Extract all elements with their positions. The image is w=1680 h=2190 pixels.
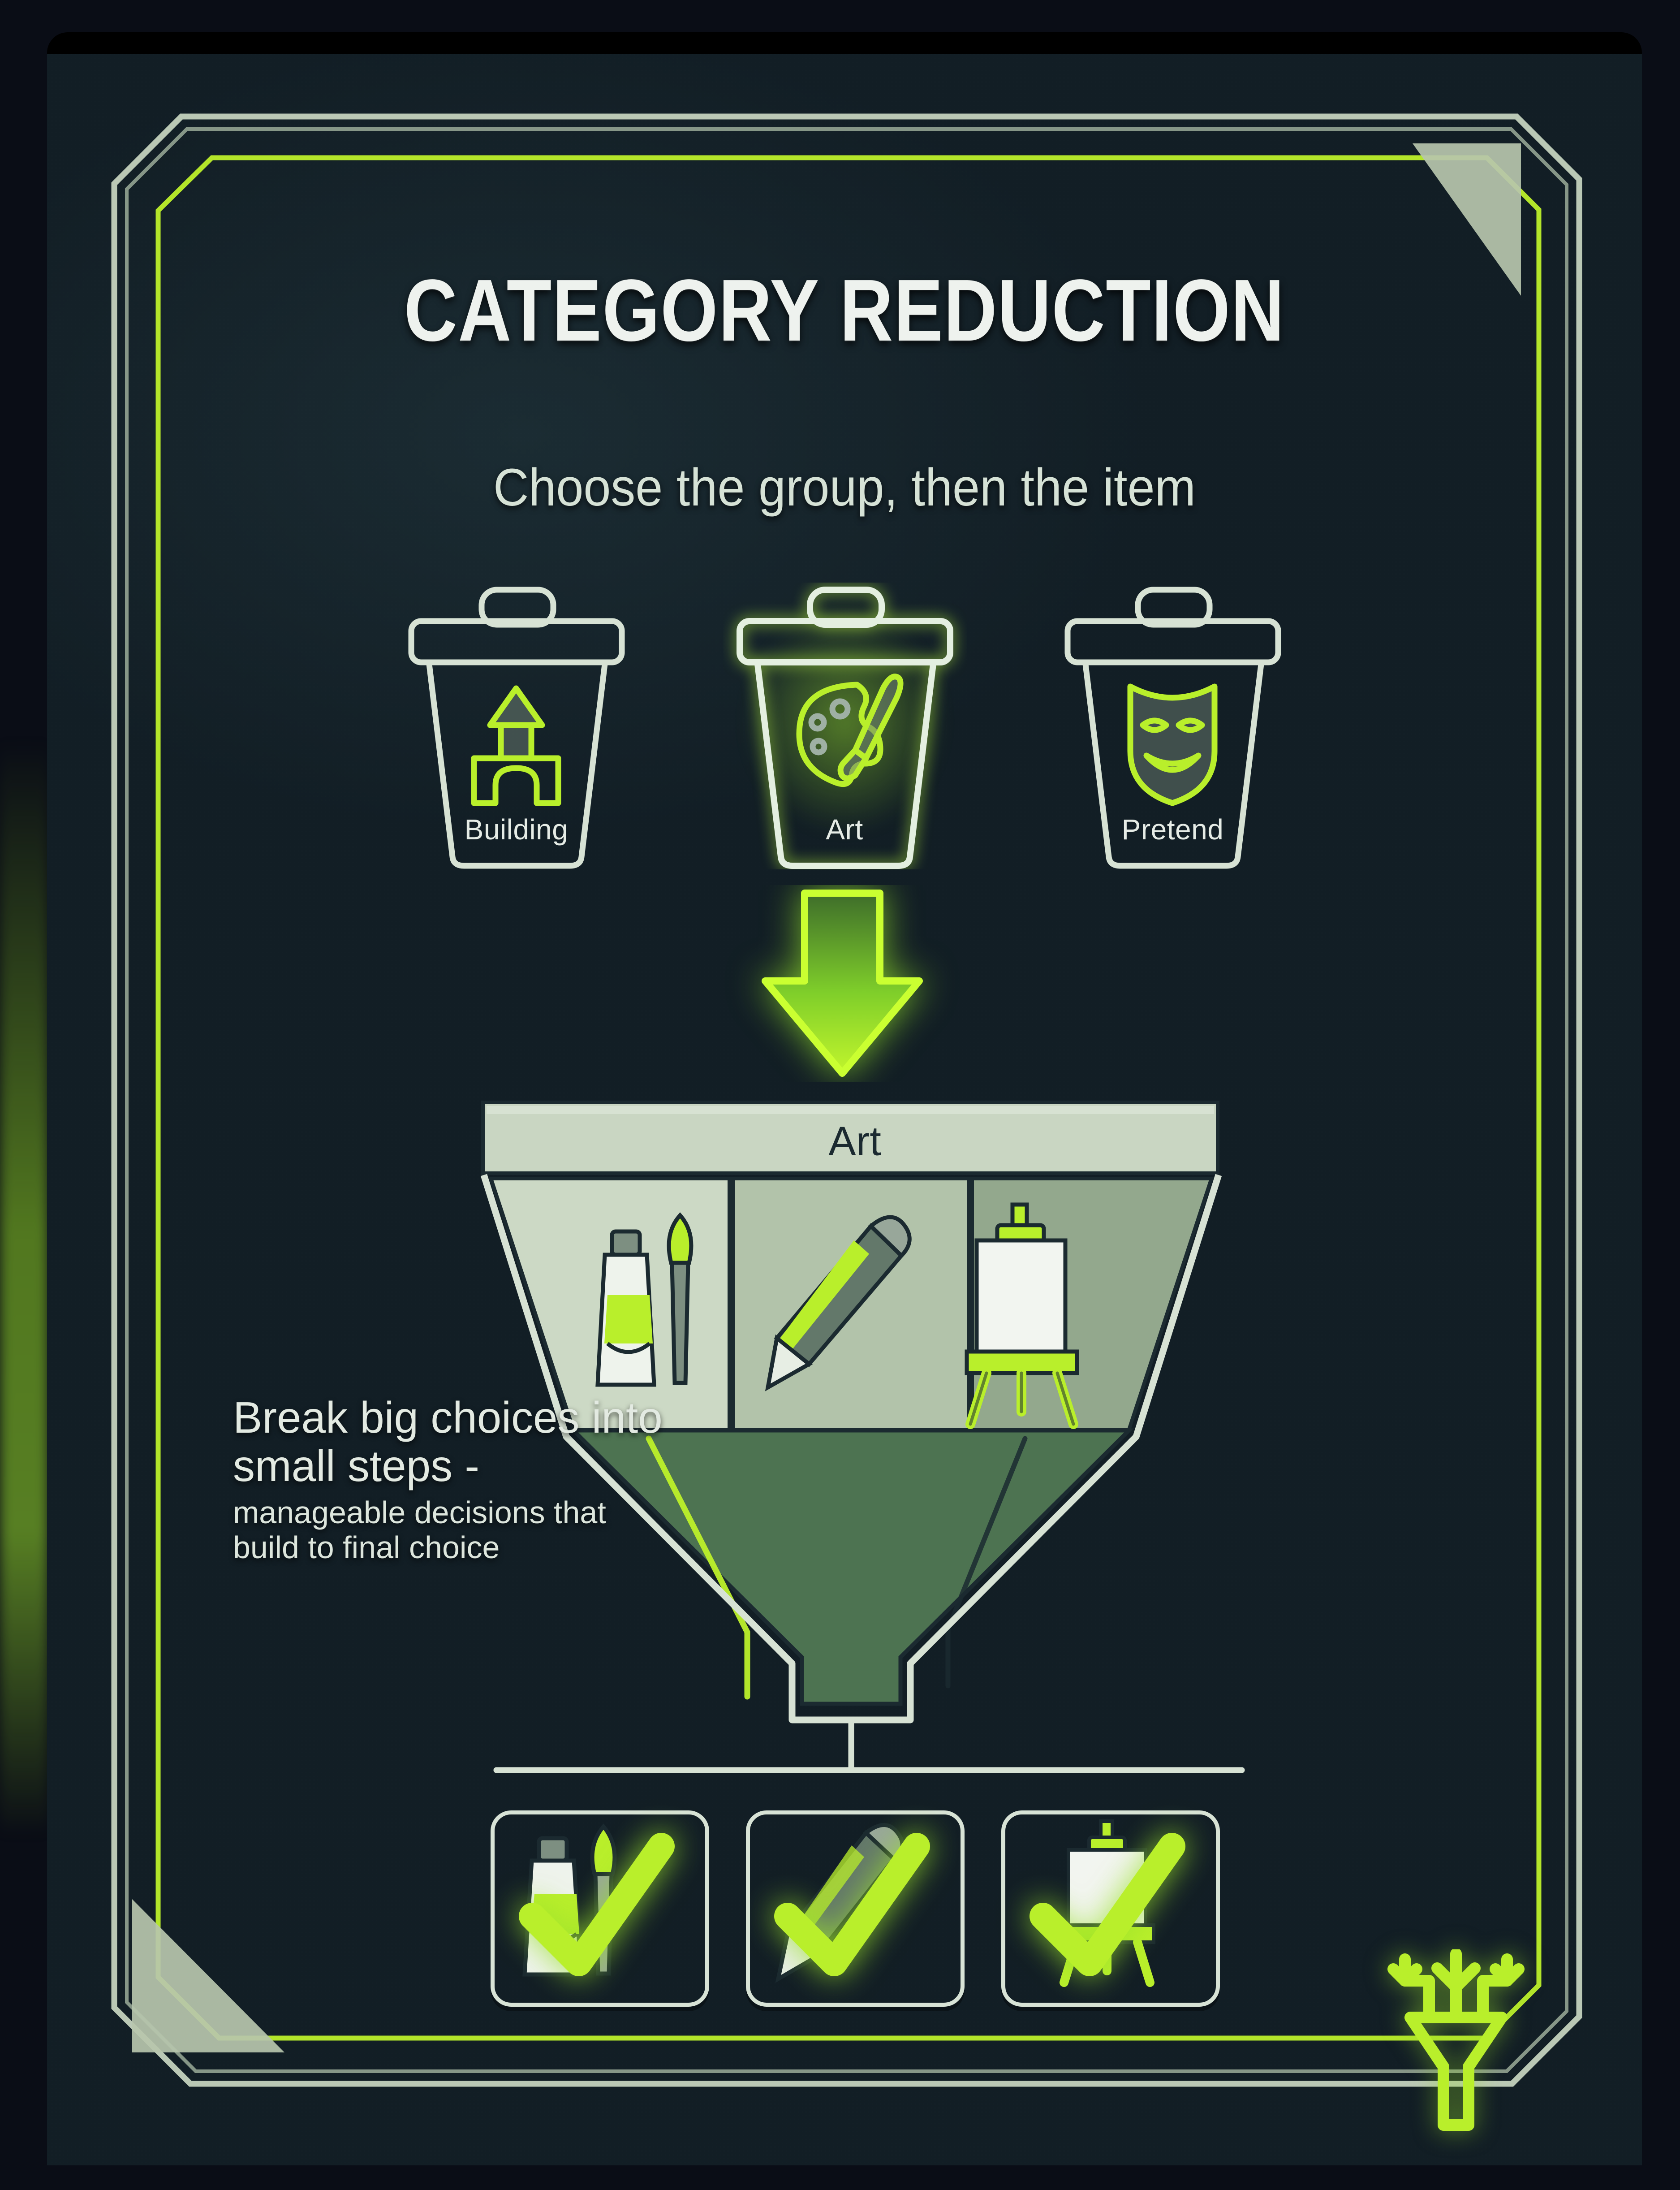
page-title: CATEGORY REDUCTION: [175, 260, 1514, 361]
explainer-sub: manageable decisions that build to final…: [233, 1495, 663, 1565]
check-icon: [1001, 1810, 1212, 1999]
check-icon: [746, 1810, 956, 1999]
check-icon: [491, 1810, 701, 1999]
category-bin-label: Art: [723, 813, 967, 846]
category-bins-row: Building Art: [394, 583, 1295, 883]
category-bin-building[interactable]: Building: [394, 583, 638, 869]
result-card-pencil[interactable]: [746, 1810, 956, 1999]
category-bin-pretend[interactable]: Pretend: [1051, 583, 1295, 869]
explainer-text: Break big choices into small steps - man…: [233, 1394, 663, 1565]
funnel-converging-arrows-icon: [1362, 1949, 1550, 2138]
category-bin-art[interactable]: Art: [723, 583, 967, 869]
funnel-header-label: Art: [828, 1119, 881, 1164]
category-bin-label: Pretend: [1051, 813, 1295, 846]
explainer-lead: Break big choices into small steps -: [233, 1394, 663, 1490]
connector-line: [475, 1720, 1263, 1823]
palette-brush-icon: [799, 677, 900, 784]
page-subtitle: Choose the group, then the item: [103, 457, 1586, 518]
result-card-paint[interactable]: [491, 1810, 701, 1999]
left-edge-glow: [0, 739, 48, 1837]
result-cards-row: [491, 1810, 1252, 1999]
castle-block-icon: [474, 688, 558, 803]
result-card-easel[interactable]: [1001, 1810, 1212, 1999]
theater-mask-icon: [1130, 687, 1215, 803]
down-arrow-icon: [717, 885, 968, 1082]
category-bin-label: Building: [394, 813, 638, 846]
